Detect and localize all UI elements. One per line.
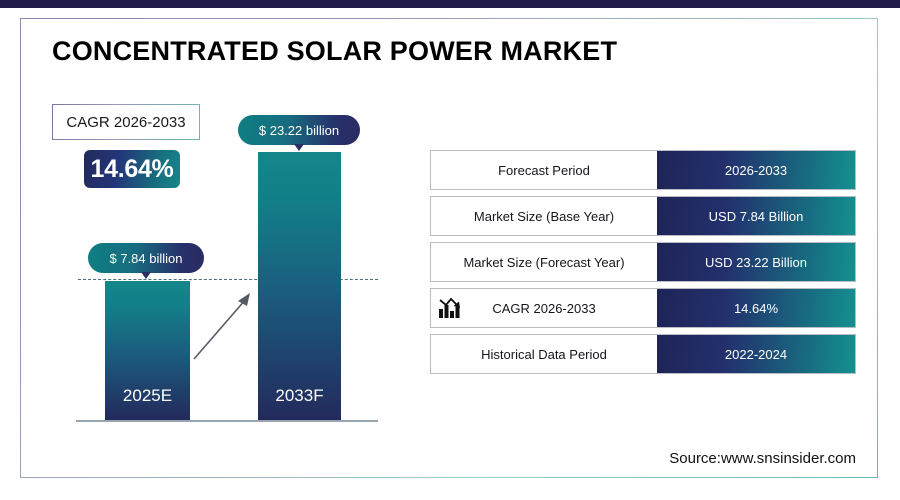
- bar-label-2025e: 2025E: [105, 386, 190, 406]
- table-row-label: CAGR 2026-2033: [431, 289, 657, 327]
- summary-table: Forecast Period 2026-2033 Market Size (B…: [430, 150, 856, 380]
- table-row-label: Market Size (Forecast Year): [431, 243, 657, 281]
- growth-arrow-icon: [186, 285, 262, 365]
- table-row-value: 14.64%: [657, 289, 855, 327]
- table-row: Market Size (Base Year) USD 7.84 Billion: [430, 196, 856, 236]
- chart-axis-line: [76, 420, 378, 422]
- table-row: Forecast Period 2026-2033: [430, 150, 856, 190]
- bar-chart: 2025E 2033F $ 7.84 billion $ 23.22 billi…: [0, 0, 420, 500]
- value-callout-2033f: $ 23.22 billion: [238, 115, 360, 145]
- table-row-label: Forecast Period: [431, 151, 657, 189]
- table-row: Historical Data Period 2022-2024: [430, 334, 856, 374]
- source-attribution: Source:www.snsinsider.com: [669, 450, 856, 467]
- value-callout-2025e: $ 7.84 billion: [88, 243, 204, 273]
- bar-2033f: 2033F: [258, 152, 341, 420]
- table-row-value: 2022-2024: [657, 335, 855, 373]
- table-row: Market Size (Forecast Year) USD 23.22 Bi…: [430, 242, 856, 282]
- table-row-value: 2026-2033: [657, 151, 855, 189]
- table-row-value: USD 7.84 Billion: [657, 197, 855, 235]
- table-row: CAGR 2026-2033 14.64%: [430, 288, 856, 328]
- bar-2025e: 2025E: [105, 281, 190, 420]
- table-row-value: USD 23.22 Billion: [657, 243, 855, 281]
- bar-label-2033f: 2033F: [258, 386, 341, 406]
- infographic-canvas: CONCENTRATED SOLAR POWER MARKET CAGR 202…: [0, 0, 900, 500]
- table-row-label-text: CAGR 2026-2033: [492, 301, 595, 316]
- table-row-label: Market Size (Base Year): [431, 197, 657, 235]
- bar-chart-icon: [437, 295, 465, 321]
- table-row-label: Historical Data Period: [431, 335, 657, 373]
